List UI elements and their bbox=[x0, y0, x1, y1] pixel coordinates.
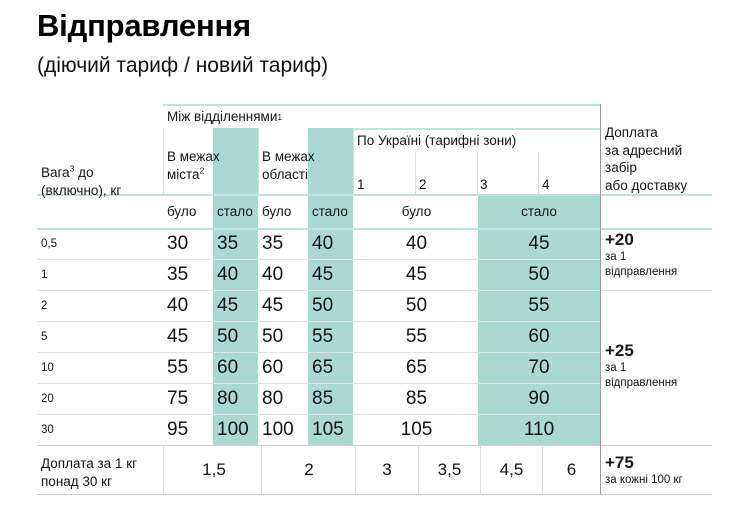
cell-region-old: 50 bbox=[262, 321, 308, 352]
weight-column-header: Вага3 до (включно), кг bbox=[41, 164, 161, 196]
row-weight-label: 10 bbox=[41, 352, 161, 383]
column-header-address-surcharge: Доплата за адресний забір або доставку bbox=[605, 124, 715, 194]
surcharge-note-20-line2: відправлення bbox=[605, 265, 715, 280]
cell-zone-new: 110 bbox=[478, 414, 600, 445]
cell-city-old: 30 bbox=[167, 228, 213, 259]
address-surcharge-line2: за адресний bbox=[605, 143, 682, 158]
footnote-marker-2: 2 bbox=[200, 165, 205, 175]
subheader-region-old: було bbox=[262, 196, 308, 228]
cell-zone-old: 50 bbox=[355, 290, 478, 321]
weight-header-word: Вага bbox=[41, 165, 70, 180]
footer-surcharge-block: +75 за кожні 100 кг bbox=[605, 453, 715, 493]
cell-city-new: 45 bbox=[217, 290, 263, 321]
surcharge-amount-25: +25 bbox=[605, 341, 715, 361]
vrule-zone3-zone4 bbox=[538, 152, 539, 194]
weight-header-line2: (включно), кг bbox=[41, 183, 121, 198]
surcharge-note-20-line1: за 1 bbox=[605, 250, 715, 265]
cell-city-old: 45 bbox=[167, 321, 213, 352]
column-header-within-city: В межах міста2 bbox=[167, 148, 227, 194]
surcharge-block-20: +20 за 1 відправлення bbox=[605, 230, 715, 288]
cell-city-new: 80 bbox=[217, 383, 263, 414]
address-surcharge-line4: або доставку bbox=[605, 178, 687, 193]
tariff-infographic: Відправлення (діючий тариф / новий тариф… bbox=[0, 0, 749, 517]
tariff-table: Між відділеннями1 По Україні (тарифні зо… bbox=[37, 104, 712, 494]
cell-city-new: 60 bbox=[217, 352, 263, 383]
vrule-footer-region bbox=[355, 445, 356, 494]
address-surcharge-line3: забір bbox=[605, 160, 637, 175]
footer-city-rate: 1,5 bbox=[167, 445, 261, 494]
subheader-region-new: стало bbox=[312, 196, 358, 228]
group-header-between-branches-label: Між відділеннями bbox=[167, 108, 277, 126]
column-header-zone-1: 1 bbox=[357, 164, 412, 194]
group-header-between-branches: Між відділеннями1 bbox=[167, 106, 417, 128]
cell-zone-old: 45 bbox=[355, 259, 478, 290]
cell-region-old: 45 bbox=[262, 290, 308, 321]
weight-header-rest: до bbox=[74, 165, 93, 180]
subheader-zone-new: стало bbox=[478, 196, 600, 228]
row-weight-label: 1 bbox=[41, 259, 161, 290]
cell-city-old: 95 bbox=[167, 414, 213, 445]
address-surcharge-line1: Доплата bbox=[605, 125, 658, 140]
vrule-footer-zone3 bbox=[542, 445, 543, 494]
cell-region-old: 40 bbox=[262, 259, 308, 290]
cell-region-old: 80 bbox=[262, 383, 308, 414]
footer-label-line2: понад 30 кг bbox=[41, 474, 112, 489]
surcharge-amount-20: +20 bbox=[605, 230, 715, 250]
cell-region-new: 55 bbox=[312, 321, 358, 352]
column-header-zone-2: 2 bbox=[419, 164, 474, 194]
cell-zone-new: 90 bbox=[478, 383, 600, 414]
footer-surcharge-note: за кожні 100 кг bbox=[605, 473, 715, 488]
footer-surcharge-amount: +75 bbox=[605, 453, 715, 473]
cell-zone-new: 70 bbox=[478, 352, 600, 383]
vrule-footer-zone1 bbox=[418, 445, 419, 494]
cell-zone-new: 45 bbox=[478, 228, 600, 259]
within-city-line2: міста bbox=[167, 167, 200, 182]
vrule-zone1-zone2 bbox=[415, 152, 416, 194]
cell-city-old: 40 bbox=[167, 290, 213, 321]
cell-region-old: 60 bbox=[262, 352, 308, 383]
vrule-city-region bbox=[258, 128, 259, 194]
footer-label: Доплата за 1 кг понад 30 кг bbox=[41, 455, 166, 495]
vrule-surcharge-col bbox=[600, 104, 601, 494]
cell-city-new: 50 bbox=[217, 321, 263, 352]
surcharge-note-25-line2: відправлення bbox=[605, 376, 715, 391]
cell-region-new: 45 bbox=[312, 259, 358, 290]
cell-zone-old: 85 bbox=[355, 383, 478, 414]
vrule-zone2-zone3 bbox=[477, 152, 478, 194]
row-weight-label: 30 bbox=[41, 414, 161, 445]
row-weight-label: 5 bbox=[41, 321, 161, 352]
cell-region-new: 50 bbox=[312, 290, 358, 321]
cell-region-new: 85 bbox=[312, 383, 358, 414]
cell-city-new: 35 bbox=[217, 228, 263, 259]
footer-zone4-rate: 6 bbox=[543, 445, 600, 494]
cell-region-old: 100 bbox=[262, 414, 312, 445]
page-subtitle: (діючий тариф / новий тариф) bbox=[37, 54, 328, 78]
cell-region-new: 65 bbox=[312, 352, 358, 383]
cell-region-new: 40 bbox=[312, 228, 358, 259]
cell-city-old: 35 bbox=[167, 259, 213, 290]
cell-zone-new: 50 bbox=[478, 259, 600, 290]
cell-city-new: 100 bbox=[217, 414, 267, 445]
footer-zone2-rate: 3,5 bbox=[419, 445, 480, 494]
column-header-zone-4: 4 bbox=[542, 164, 597, 194]
vrule-footer-weight bbox=[163, 445, 164, 494]
cell-city-new: 40 bbox=[217, 259, 263, 290]
subheader-city-new: стало bbox=[217, 196, 263, 228]
cell-region-old: 35 bbox=[262, 228, 308, 259]
subheader-zone-old: було bbox=[355, 196, 478, 228]
vrule-weight-col bbox=[163, 128, 164, 194]
row-weight-label: 0,5 bbox=[41, 228, 161, 259]
subheader-city-old: було bbox=[167, 196, 213, 228]
cell-zone-old: 55 bbox=[355, 321, 478, 352]
within-region-line1: В межах bbox=[262, 149, 315, 164]
cell-zone-old: 40 bbox=[355, 228, 478, 259]
cell-city-old: 55 bbox=[167, 352, 213, 383]
group-header-ukraine: По Україні (тарифні зони) bbox=[357, 130, 607, 152]
column-header-within-region: В межах області bbox=[262, 148, 322, 194]
footer-zone3-rate: 4,5 bbox=[481, 445, 542, 494]
column-header-zone-3: 3 bbox=[480, 164, 535, 194]
within-region-line2: області bbox=[262, 167, 308, 182]
surcharge-block-25: +25 за 1 відправлення bbox=[605, 341, 715, 399]
cell-zone-new: 55 bbox=[478, 290, 600, 321]
within-city-line1: В межах bbox=[167, 149, 220, 164]
row-weight-label: 20 bbox=[41, 383, 161, 414]
footer-label-line1: Доплата за 1 кг bbox=[41, 456, 137, 471]
vrule-footer-city bbox=[261, 445, 262, 494]
row-weight-label: 2 bbox=[41, 290, 161, 321]
page-title: Відправлення bbox=[37, 8, 251, 44]
cell-zone-new: 60 bbox=[478, 321, 600, 352]
cell-zone-old: 105 bbox=[355, 414, 478, 445]
surcharge-note-25-line1: за 1 bbox=[605, 361, 715, 376]
cell-zone-old: 65 bbox=[355, 352, 478, 383]
cell-city-old: 75 bbox=[167, 383, 213, 414]
footer-region-rate: 2 bbox=[263, 445, 355, 494]
vrule-footer-zone2 bbox=[480, 445, 481, 494]
vrule-region-ukraine bbox=[353, 128, 354, 194]
footer-zone1-rate: 3 bbox=[356, 445, 418, 494]
